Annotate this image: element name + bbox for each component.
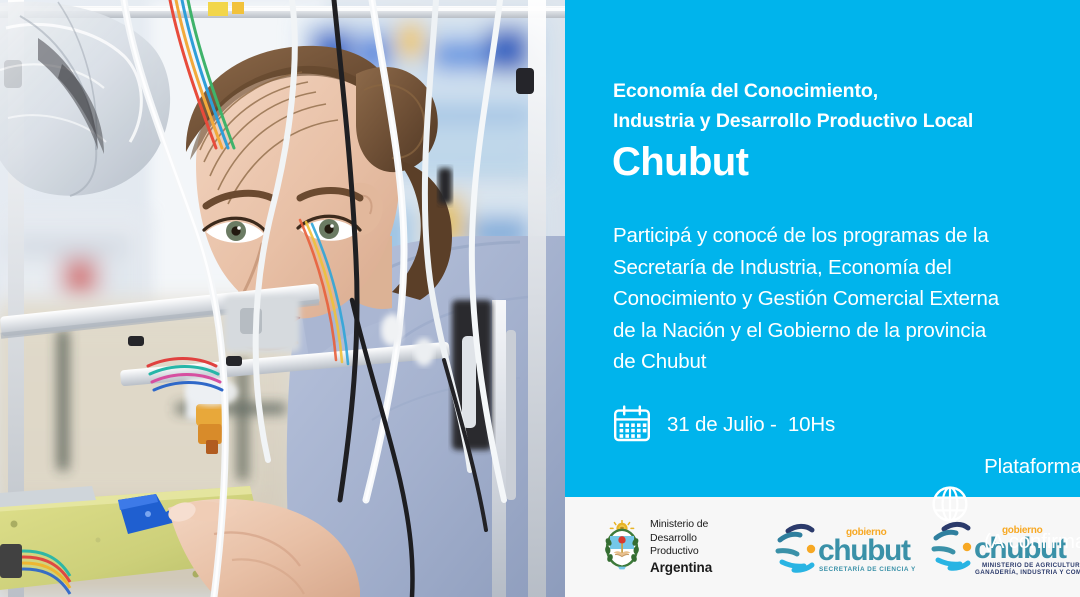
info-panel: Economía del Conocimiento, Industria y D…: [565, 0, 1080, 597]
event-description-line-1: Participá y conocé de los programas de l…: [613, 220, 1053, 252]
info-panel-body: Economía del Conocimiento, Industria y D…: [565, 0, 1080, 497]
event-date-item: 31 de Julio - 10Hs: [612, 404, 835, 444]
event-description: Participá y conocé de los programas de l…: [613, 220, 1053, 378]
event-description-line-5: de Chubut: [613, 346, 1053, 378]
event-description-line-4: de la Nación y el Gobierno de la provinc…: [613, 315, 1053, 347]
calendar-icon: [612, 404, 652, 444]
event-subject-line-1: Economía del Conocimiento,: [613, 76, 1043, 106]
event-description-line-3: Conocimiento y Gestión Comercial Externa: [613, 283, 1053, 315]
globe-icon: [930, 484, 970, 524]
event-subject-line-2: Industria y Desarrollo Productivo Local: [613, 106, 1043, 136]
event-date-text: 31 de Julio - 10Hs: [667, 412, 835, 437]
event-platform-line-1: Plataforma web: [984, 454, 1080, 479]
event-flyer: Economía del Conocimiento, Industria y D…: [0, 0, 1080, 597]
event-platform-line-2: (A confirmar): [984, 529, 1080, 554]
page-title: Chubut: [612, 139, 748, 185]
event-subject: Economía del Conocimiento, Industria y D…: [613, 76, 1043, 136]
event-description-line-2: Secretaría de Industria, Economía del: [613, 252, 1053, 284]
event-platform-text: Plataforma web (A confirmar): [984, 404, 1080, 597]
lab-3d-printing-photo: [0, 0, 565, 597]
event-platform-item: Plataforma web (A confirmar): [930, 404, 1080, 597]
event-meta-row: 31 de Julio - 10Hs Plataforma web: [612, 404, 1080, 597]
